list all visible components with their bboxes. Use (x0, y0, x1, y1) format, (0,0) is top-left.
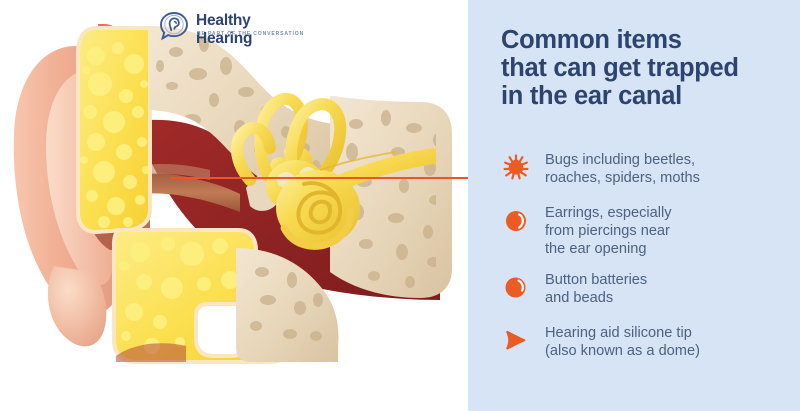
logo-wordmark: Healthy Hearing (196, 12, 308, 48)
fatty-tissue-upper (78, 28, 150, 232)
list-item-label: Button batteries and beads (545, 271, 795, 307)
healthy-hearing-logo[interactable]: Healthy Hearing BE PART OF THE CONVERSAT… (158, 9, 308, 45)
earring-hoop-icon (501, 205, 531, 235)
bug-icon (501, 152, 531, 182)
info-panel: Common items that can get trapped in the… (468, 0, 800, 411)
infographic-canvas: Healthy Hearing BE PART OF THE CONVERSAT… (0, 0, 800, 411)
ear-in-speech-bubble-icon (158, 10, 190, 42)
list-item-label: Earrings, especially from piercings near… (545, 204, 795, 259)
ear-anatomy-illustration (0, 0, 468, 411)
button-battery-icon (501, 272, 531, 302)
page-title: Common items that can get trapped in the… (501, 26, 791, 110)
logo-tagline: BE PART OF THE CONVERSATION (197, 31, 304, 37)
list-item-label: Bugs including beetles, roaches, spiders… (545, 151, 795, 187)
hearing-aid-dome-icon (501, 325, 531, 355)
list-item-label: Hearing aid silicone tip (also known as … (545, 324, 795, 360)
